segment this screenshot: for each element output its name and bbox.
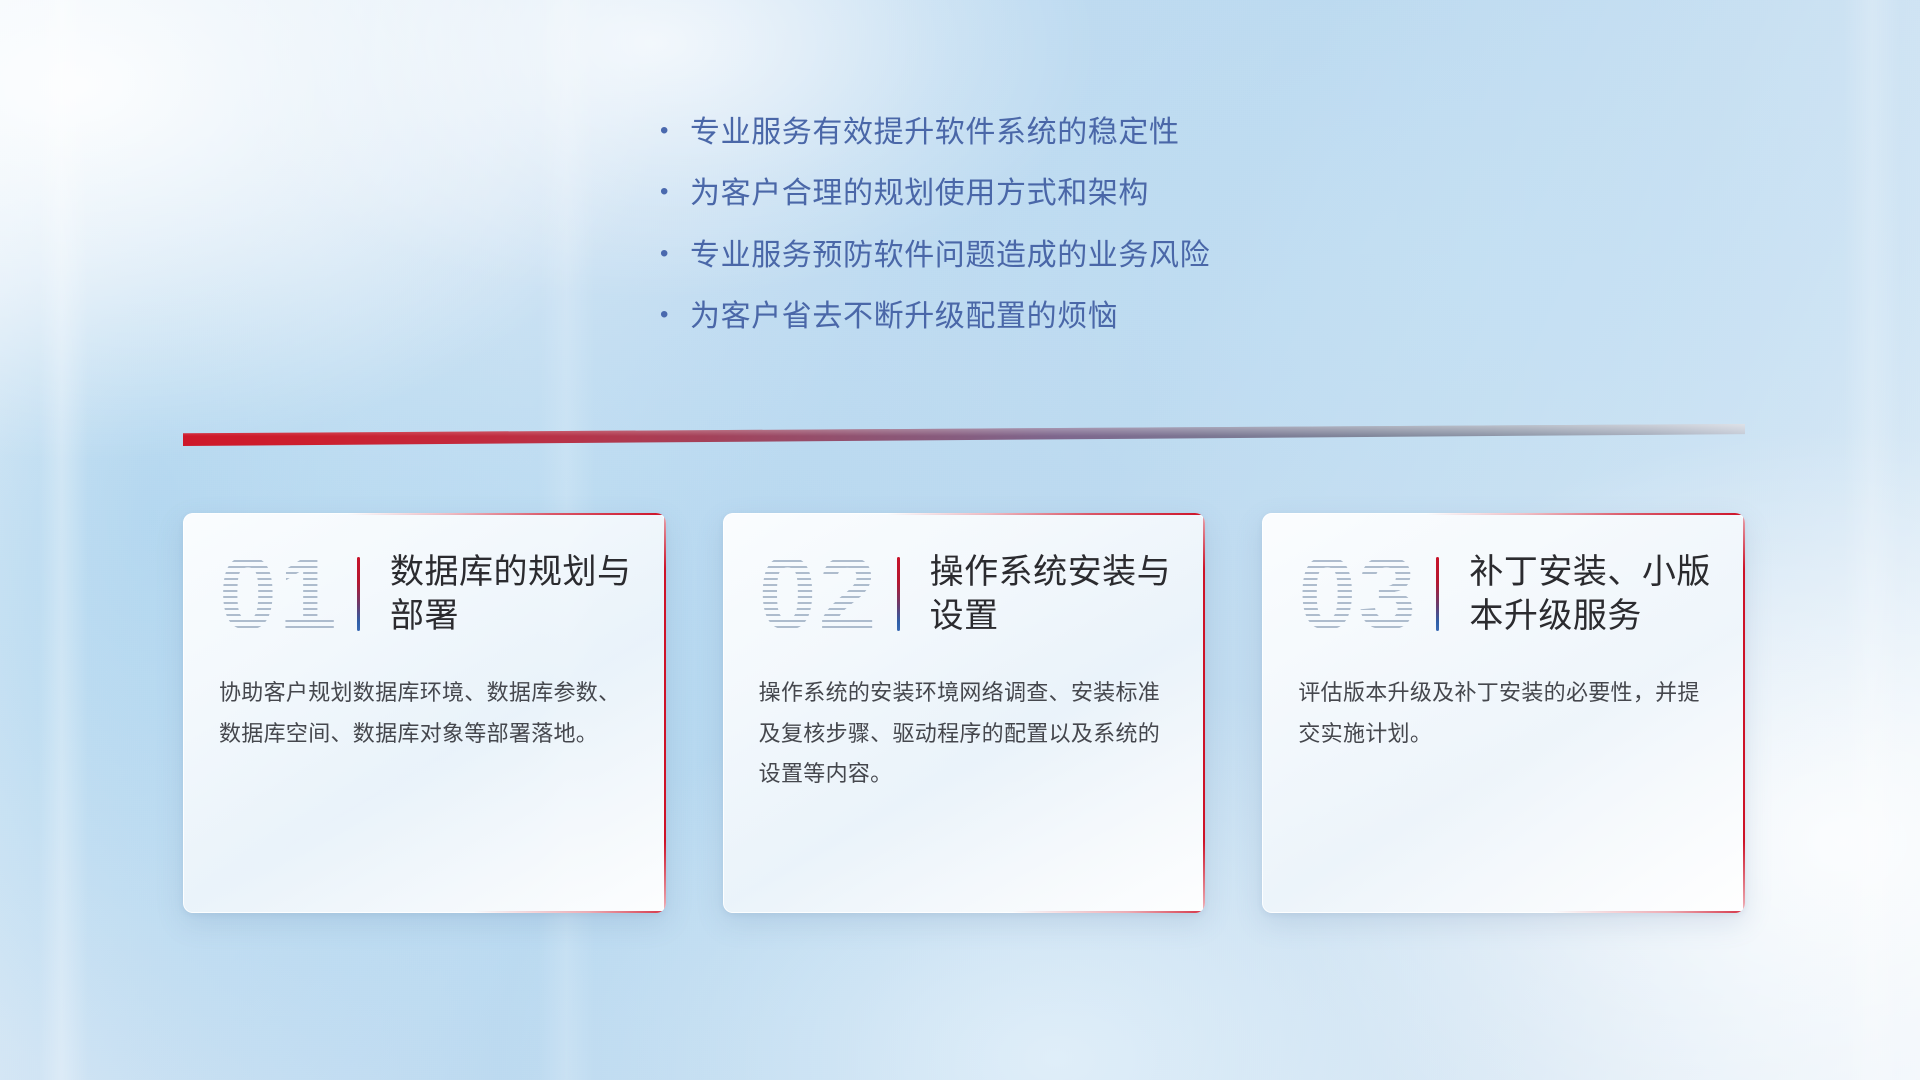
card-description: 协助客户规划数据库环境、数据库参数、数据库空间、数据库对象等部署落地。	[183, 641, 666, 754]
card-number-watermark: 03	[1298, 542, 1430, 646]
card-title-rule	[897, 557, 900, 631]
section-divider	[183, 424, 1745, 446]
bullet-item-text: 为客户省去不断升级配置的烦恼	[690, 296, 1118, 337]
card-description: 操作系统的安装环境网络调查、安装标准及复核步骤、驱动程序的配置以及系统的设置等内…	[723, 641, 1206, 795]
card-title-rule	[1436, 557, 1439, 631]
card-title: 补丁安装、小版本升级服务	[1469, 550, 1715, 638]
card-header: 01 数据库的规划与部署	[183, 513, 666, 641]
card-title: 数据库的规划与部署	[390, 550, 636, 638]
bullet-dot-icon: •	[660, 119, 690, 143]
bullet-item-text: 专业服务预防软件问题造成的业务风险	[690, 235, 1210, 276]
bullet-dot-icon: •	[660, 242, 690, 266]
card-header: 02 操作系统安装与设置	[723, 513, 1206, 641]
service-card[interactable]: 03 补丁安装、小版本升级服务 评估版本升级及补丁安装的必要性，并提交实施计划。	[1262, 513, 1745, 913]
bullet-item: • 为客户省去不断升级配置的烦恼	[660, 296, 1440, 337]
service-card-list: 01 数据库的规划与部署 协助客户规划数据库环境、数据库参数、数据库空间、数据库…	[183, 513, 1745, 913]
bullet-dot-icon: •	[660, 303, 690, 327]
card-red-accent-bottom	[183, 911, 666, 913]
card-red-accent-bottom	[723, 911, 1206, 913]
bullet-item: • 专业服务有效提升软件系统的稳定性	[660, 112, 1440, 153]
benefits-bullet-list: • 专业服务有效提升软件系统的稳定性 • 为客户合理的规划使用方式和架构 • 专…	[660, 112, 1440, 358]
bullet-item: • 专业服务预防软件问题造成的业务风险	[660, 235, 1440, 276]
card-title: 操作系统安装与设置	[930, 550, 1176, 638]
service-card[interactable]: 02 操作系统安装与设置 操作系统的安装环境网络调查、安装标准及复核步骤、驱动程…	[723, 513, 1206, 913]
bullet-item-text: 为客户合理的规划使用方式和架构	[690, 173, 1149, 214]
card-number-watermark: 01	[219, 542, 351, 646]
bullet-item-text: 专业服务有效提升软件系统的稳定性	[690, 112, 1180, 153]
card-header: 03 补丁安装、小版本升级服务	[1262, 513, 1745, 641]
card-number-watermark: 02	[759, 542, 891, 646]
divider-gloss-overlay	[183, 424, 1745, 446]
bullet-item: • 为客户合理的规划使用方式和架构	[660, 173, 1440, 214]
card-red-accent-bottom	[1262, 911, 1745, 913]
bullet-dot-icon: •	[660, 180, 690, 204]
slide-canvas: • 专业服务有效提升软件系统的稳定性 • 为客户合理的规划使用方式和架构 • 专…	[0, 0, 1920, 1080]
service-card[interactable]: 01 数据库的规划与部署 协助客户规划数据库环境、数据库参数、数据库空间、数据库…	[183, 513, 666, 913]
card-title-rule	[357, 557, 360, 631]
card-description: 评估版本升级及补丁安装的必要性，并提交实施计划。	[1262, 641, 1745, 754]
